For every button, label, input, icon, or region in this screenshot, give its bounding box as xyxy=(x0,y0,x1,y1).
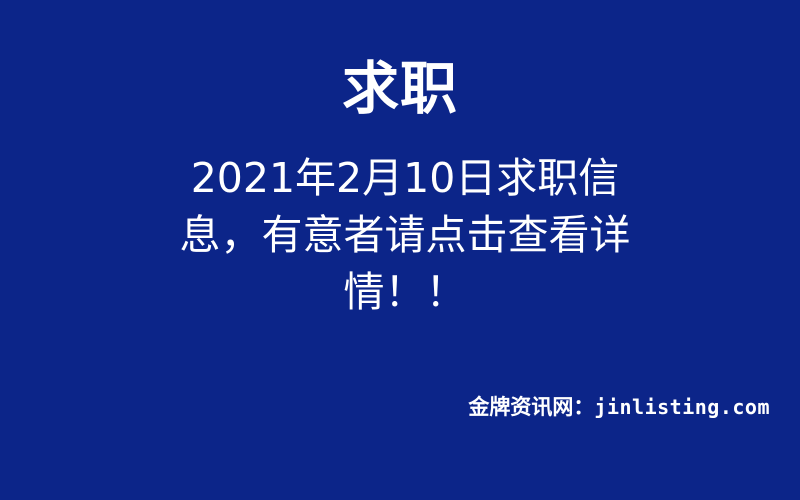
announcement-body-text: 2021年2月10日求职信息，有意者请点击查看详情！！ xyxy=(170,150,640,321)
site-watermark: 金牌资讯网：jinlisting.com xyxy=(0,394,770,420)
poster-canvas: 求职 2021年2月10日求职信息，有意者请点击查看详情！！ 金牌资讯网：jin… xyxy=(0,0,800,500)
site-name-label: 金牌资讯网： xyxy=(468,395,594,419)
site-url-label: jinlisting.com xyxy=(594,395,770,419)
page-title: 求职 xyxy=(0,58,800,122)
